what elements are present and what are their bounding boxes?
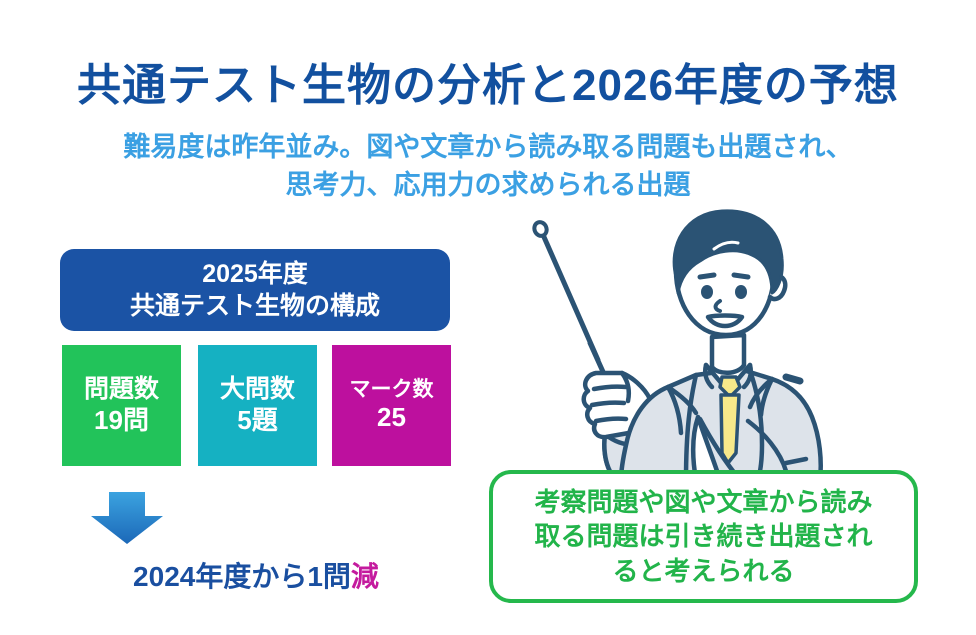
stat-value-mark-count: 25 (377, 402, 406, 434)
stat-label-mark-count: マーク数 (350, 377, 434, 403)
stat-box-section-count: 大問数 5題 (198, 345, 317, 466)
stat-label-section-count: 大問数 (220, 374, 295, 405)
stat-box-question-count: 問題数 19問 (62, 345, 181, 466)
prediction-callout-box: 考察問題や図や文章から読み 取る問題は引き続き出題され ると考えられる (489, 470, 918, 603)
composition-footnote-highlight: 減 (351, 561, 379, 592)
teacher-with-pointer-illustration (500, 205, 920, 480)
infographic-canvas: 共通テスト生物の分析と2026年度の予想 難易度は昨年並み。図や文章から読み取る… (0, 0, 976, 635)
composition-header-box: 2025年度 共通テスト生物の構成 (60, 249, 450, 331)
page-subtitle-line-1: 難易度は昨年並み。図や文章から読み取る問題も出題され、 (0, 128, 976, 166)
page-subtitle: 難易度は昨年並み。図や文章から読み取る問題も出題され、 思考力、応用力の求められ… (0, 128, 976, 205)
prediction-callout-line-1: 考察問題や図や文章から読み (534, 485, 872, 519)
composition-footnote-text: 2024年度から1問 (133, 561, 351, 592)
composition-header-line-2: 共通テスト生物の構成 (130, 290, 380, 322)
prediction-callout-line-3: ると考えられる (612, 554, 794, 588)
composition-header-line-1: 2025年度 (202, 258, 308, 290)
stat-value-section-count: 5題 (237, 405, 277, 437)
page-subtitle-line-2: 思考力、応用力の求められる出題 (0, 166, 976, 204)
prediction-callout-line-2: 取る問題は引き続き出題され (534, 519, 872, 553)
composition-footnote: 2024年度から1問減 (60, 555, 452, 595)
page-title: 共通テスト生物の分析と2026年度の予想 (0, 62, 976, 110)
stat-label-question-count: 問題数 (84, 374, 159, 405)
down-arrow-icon (91, 492, 163, 544)
stat-value-question-count: 19問 (94, 405, 149, 437)
stat-box-row: 問題数 19問 大問数 5題 マーク数 25 (60, 345, 452, 466)
stat-box-mark-count: マーク数 25 (332, 345, 451, 466)
